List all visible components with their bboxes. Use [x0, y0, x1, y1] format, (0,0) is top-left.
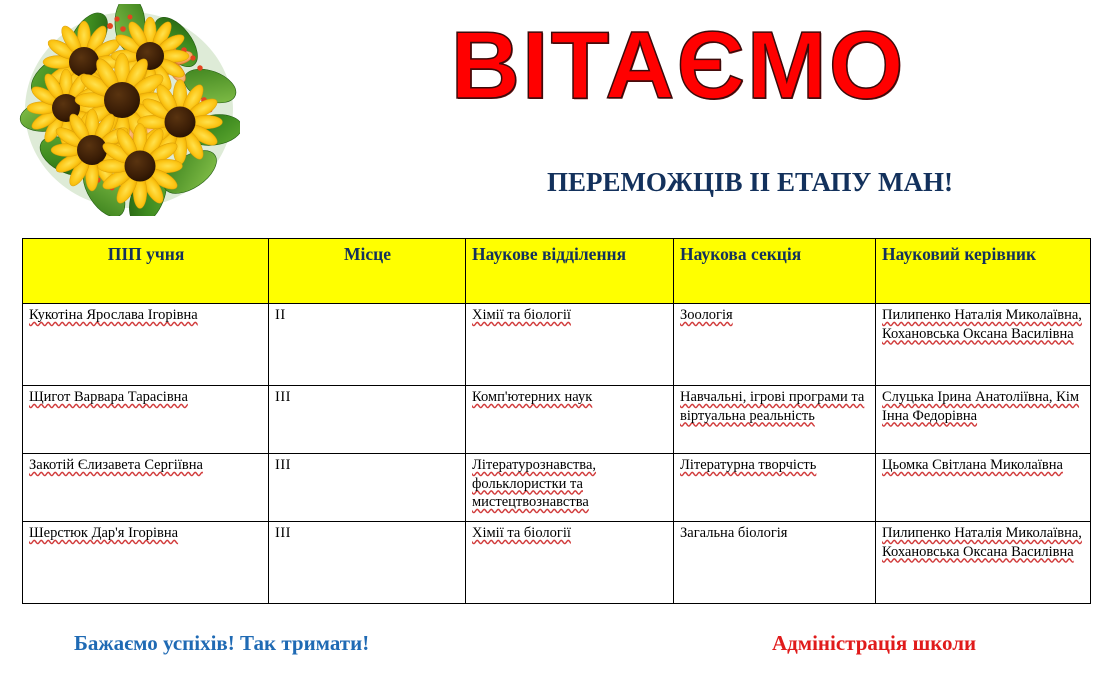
- cell-section: Зоологія: [674, 304, 876, 386]
- cell-department: Літературознавства, фольклористки та мис…: [466, 454, 674, 522]
- table-header-row: ПІП учня Місце Наукове відділення Науков…: [23, 239, 1091, 304]
- column-header-department: Наукове відділення: [466, 239, 674, 304]
- cell-section: Літературна творчість: [674, 454, 876, 522]
- column-header-supervisor: Науковий керівник: [876, 239, 1091, 304]
- cell-supervisor: Цьомка Світлана Миколаївна: [876, 454, 1091, 522]
- sunflower-bouquet-image: [18, 4, 240, 216]
- table-row: Закотій Єлизавета Сергіївна ІІІ Літерату…: [23, 454, 1091, 522]
- column-header-section: Наукова секція: [674, 239, 876, 304]
- cell-place: ІІІ: [269, 522, 466, 604]
- column-header-place: Місце: [269, 239, 466, 304]
- cell-student-name: Кукотіна Ярослава Ігорівна: [23, 304, 269, 386]
- table-row: Щигот Варвара Тарасівна ІІІ Комп'ютерних…: [23, 386, 1091, 454]
- cell-place: ІІІ: [269, 386, 466, 454]
- winners-table: ПІП учня Місце Наукове відділення Науков…: [22, 238, 1091, 604]
- cell-department: Хімії та біології: [466, 304, 674, 386]
- footer-signature: Адміністрація школи: [772, 630, 976, 656]
- cell-department: Комп'ютерних наук: [466, 386, 674, 454]
- cell-student-name: Шерстюк Дар'я Ігорівна: [23, 522, 269, 604]
- cell-place: ІІІ: [269, 454, 466, 522]
- cell-student-name: Щигот Варвара Тарасівна: [23, 386, 269, 454]
- cell-student-name: Закотій Єлизавета Сергіївна: [23, 454, 269, 522]
- table-row: Шерстюк Дар'я Ігорівна ІІІ Хімії та біол…: [23, 522, 1091, 604]
- table-row: Кукотіна Ярослава Ігорівна ІІ Хімії та б…: [23, 304, 1091, 386]
- cell-supervisor: Слуцька Ірина Анатоліївна, Кім Інна Федо…: [876, 386, 1091, 454]
- column-header-student-name: ПІП учня: [23, 239, 269, 304]
- cell-section: Загальна біологія: [674, 522, 876, 604]
- footer-wish-text: Бажаємо успіхів! Так тримати!: [74, 630, 369, 656]
- cell-place: ІІ: [269, 304, 466, 386]
- page-title: ВІТАЄМО: [398, 14, 958, 118]
- page-subtitle: ПЕРЕМОЖЦІВ ІІ ЕТАПУ МАН!: [430, 166, 1070, 198]
- cell-supervisor: Пилипенко Наталія Миколаївна, Кохановськ…: [876, 304, 1091, 386]
- cell-supervisor: Пилипенко Наталія Миколаївна, Кохановськ…: [876, 522, 1091, 604]
- cell-section: Навчальні, ігрові програми та віртуальна…: [674, 386, 876, 454]
- cell-department: Хімії та біології: [466, 522, 674, 604]
